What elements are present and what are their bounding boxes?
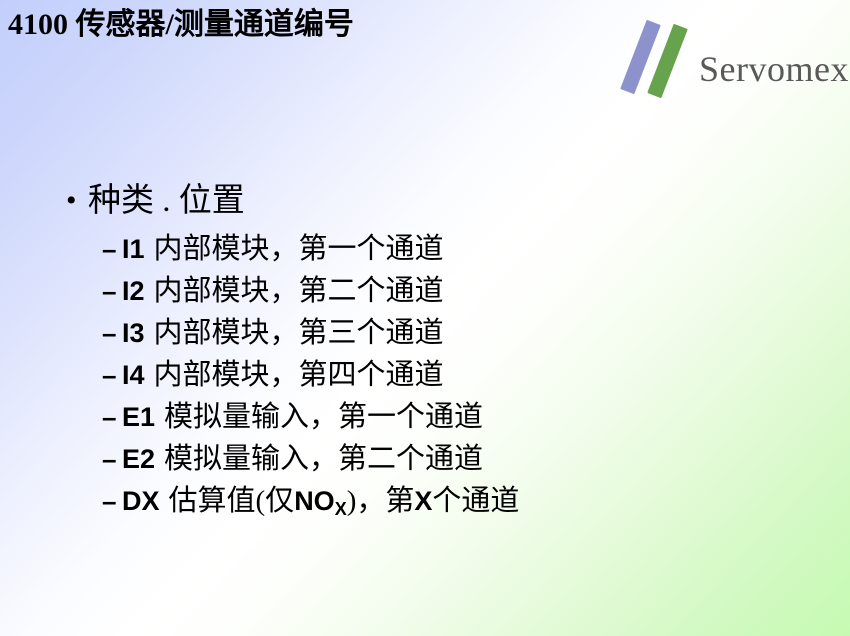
dash-marker: – bbox=[102, 396, 122, 438]
list-item: – I2 内部模块，第二个通道 bbox=[102, 270, 830, 312]
channel-code: I1 bbox=[122, 228, 145, 270]
dash-marker: – bbox=[102, 354, 122, 396]
channel-description: 内部模块，第二个通道 bbox=[154, 270, 444, 312]
list-item: – I1 内部模块，第一个通道 bbox=[102, 228, 830, 270]
dash-marker: – bbox=[102, 312, 122, 354]
channel-code: DX bbox=[122, 480, 160, 522]
list-item: – I3 内部模块，第三个通道 bbox=[102, 312, 830, 354]
channel-description: 内部模块，第三个通道 bbox=[154, 312, 444, 354]
list-item: – DX 估算值(仅NOX)，第X个通道 bbox=[102, 480, 830, 522]
channel-code: E1 bbox=[122, 396, 155, 438]
logo-slashes-icon bbox=[623, 22, 709, 94]
channel-description: 模拟量输入，第一个通道 bbox=[164, 396, 483, 438]
channel-description-rich: 估算值(仅NOX)，第X个通道 bbox=[169, 480, 520, 525]
channel-description: 内部模块，第四个通道 bbox=[154, 354, 444, 396]
channel-code: I4 bbox=[122, 354, 145, 396]
channel-description: 内部模块，第一个通道 bbox=[154, 228, 444, 270]
logo-wordmark: Servomex bbox=[699, 51, 849, 87]
bullet-marker: • bbox=[60, 178, 88, 224]
channel-description: 模拟量输入，第二个通道 bbox=[164, 438, 483, 480]
dash-marker: – bbox=[102, 270, 122, 312]
dash-marker: – bbox=[102, 480, 122, 522]
slide-body: • 种类 . 位置 – I1 内部模块，第一个通道 – I2 内部模块，第二个通… bbox=[60, 178, 830, 522]
servomex-logo: Servomex bbox=[623, 22, 838, 100]
channel-code: I2 bbox=[122, 270, 145, 312]
bullet-level1: • 种类 . 位置 bbox=[60, 178, 830, 224]
list-item: – I4 内部模块，第四个通道 bbox=[102, 354, 830, 396]
dash-marker: – bbox=[102, 438, 122, 480]
slide-canvas: 4100 传感器/测量通道编号 Servomex • 种类 . 位置 – I1 … bbox=[0, 0, 850, 636]
channel-code: E2 bbox=[122, 438, 155, 480]
list-item: – E1 模拟量输入，第一个通道 bbox=[102, 396, 830, 438]
page-title: 4100 传感器/测量通道编号 bbox=[8, 6, 608, 44]
dash-marker: – bbox=[102, 228, 122, 270]
channel-code: I3 bbox=[122, 312, 145, 354]
bullet-level1-label: 种类 . 位置 bbox=[88, 178, 245, 224]
list-item: – E2 模拟量输入，第二个通道 bbox=[102, 438, 830, 480]
title-block: 4100 传感器/测量通道编号 bbox=[8, 6, 608, 44]
bullet-level2-list: – I1 内部模块，第一个通道 – I2 内部模块，第二个通道 – I3 内部模… bbox=[102, 228, 830, 522]
